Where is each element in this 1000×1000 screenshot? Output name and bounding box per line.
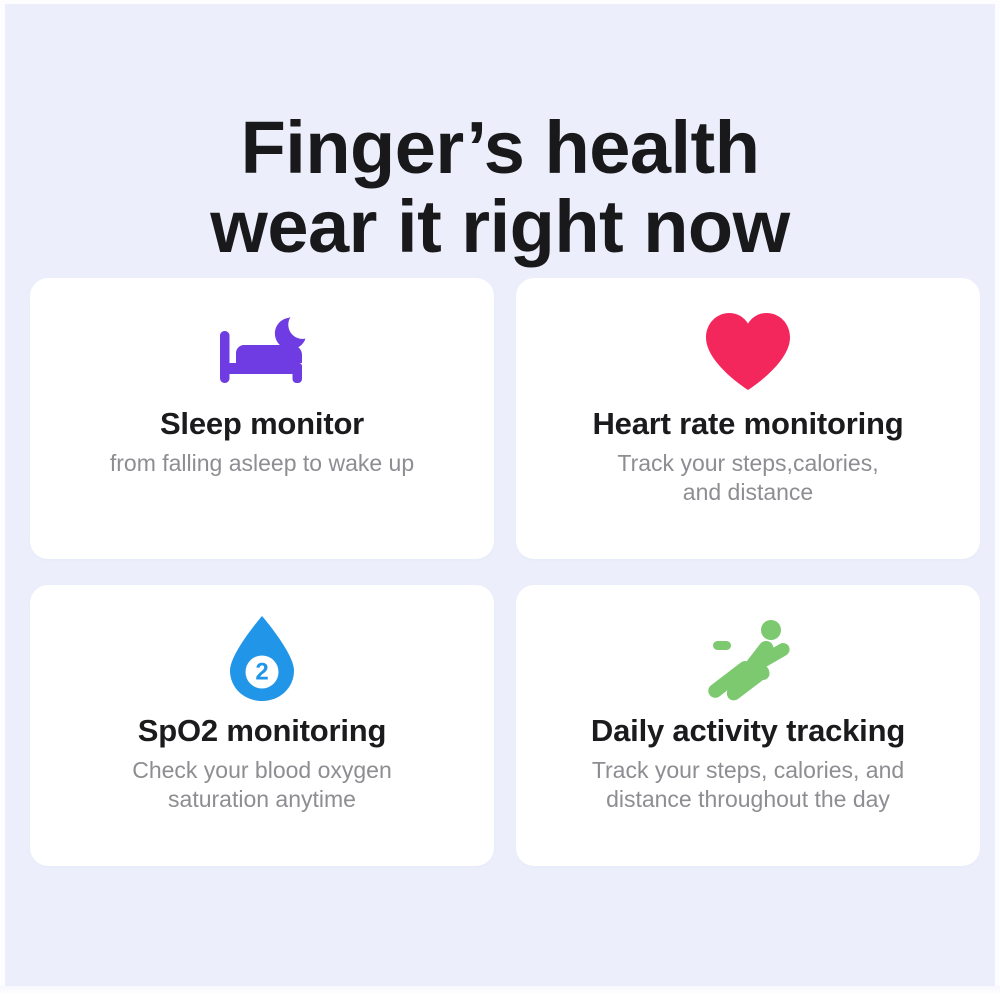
headline-line-2: wear it right now — [0, 187, 1000, 266]
card-title: Sleep monitor — [160, 406, 364, 442]
card-description-line: distance throughout the day — [592, 785, 904, 814]
card-description-line: Track your steps,calories, — [617, 449, 878, 478]
card-description: Check your blood oxygen saturation anyti… — [132, 756, 392, 815]
card-title: Daily activity tracking — [591, 713, 905, 749]
page-edge-bottom — [0, 986, 1000, 1000]
feature-card-grid: Sleep monitor from falling asleep to wak… — [30, 278, 970, 866]
feature-card-sleep-monitor: Sleep monitor from falling asleep to wak… — [30, 278, 494, 559]
page-edge-top — [0, 0, 1000, 4]
page-title: Finger’s health wear it right now — [0, 108, 1000, 266]
card-description: Track your steps, calories, and distance… — [592, 756, 904, 815]
card-title: SpO2 monitoring — [138, 713, 386, 749]
card-description-line: Track your steps, calories, and — [592, 756, 904, 785]
card-description: Track your steps,calories, and distance — [617, 449, 878, 508]
card-description-line: from falling asleep to wake up — [110, 449, 414, 478]
card-description: from falling asleep to wake up — [110, 449, 414, 478]
feature-card-daily-activity: Daily activity tracking Track your steps… — [516, 585, 980, 866]
running-person-icon — [700, 611, 796, 707]
drop-o2-label: 2 — [255, 659, 268, 686]
headline-line-1: Finger’s health — [0, 108, 1000, 187]
card-description-line: Check your blood oxygen — [132, 756, 392, 785]
feature-card-heart-rate: Heart rate monitoring Track your steps,c… — [516, 278, 980, 559]
promo-poster: Finger’s health wear it right now — [0, 0, 1000, 1000]
feature-card-spo2: 2 SpO2 monitoring Check your blood oxyge… — [30, 585, 494, 866]
heart-icon — [702, 304, 794, 400]
water-drop-o2-icon: 2 — [220, 611, 304, 707]
bed-moon-icon — [214, 304, 310, 400]
card-title: Heart rate monitoring — [592, 406, 903, 442]
card-description-line: and distance — [617, 478, 878, 507]
card-description-line: saturation anytime — [132, 785, 392, 814]
